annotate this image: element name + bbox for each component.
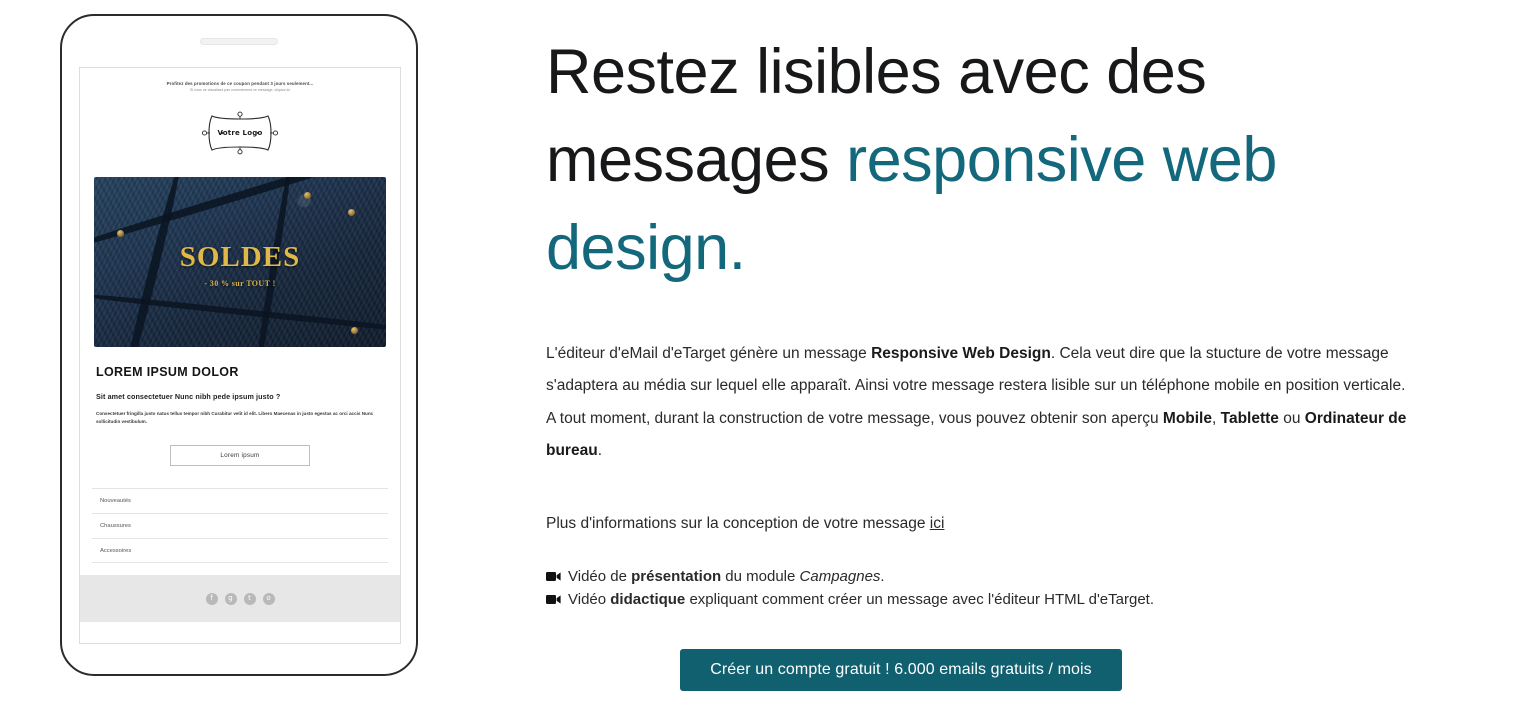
page-title: Restez lisibles avec des messages respon… <box>546 28 1426 292</box>
denim-stud-icon <box>117 230 124 237</box>
email-hero-image: SOLDES - 30 % sur TOUT ! <box>94 177 386 347</box>
video-camera-icon <box>546 594 561 605</box>
email-menu-item-chaussures[interactable]: Chaussures <box>92 513 388 538</box>
email-preheader-line2: Si vous ne visualisez pas correctement c… <box>102 87 378 93</box>
facebook-icon[interactable]: f <box>206 593 218 605</box>
email-body: LOREM IPSUM DOLOR Sit amet consectetuer … <box>80 347 400 466</box>
email-hero-title: SOLDES <box>94 242 386 272</box>
denim-stud-icon <box>351 327 358 334</box>
email-menu-item-accessoires[interactable]: Accessoires <box>92 538 388 563</box>
twitter-icon[interactable]: t <box>244 593 256 605</box>
phone-screen: Profitez des promotions de ce coupon pen… <box>79 67 401 644</box>
email-logo: Votre Logo <box>80 111 400 155</box>
create-free-account-button[interactable]: Créer un compte gratuit ! 6.000 emails g… <box>680 649 1122 691</box>
paragraph-preview-modes: A tout moment, durant la construction de… <box>546 403 1436 467</box>
paragraph-2-bold-tablette: Tablette <box>1221 410 1279 427</box>
email-subheading: Sit amet consectetuer Nunc nibh pede ips… <box>96 392 384 401</box>
paragraph-1-before: L'éditeur d'eMail d'eTarget génère un me… <box>546 345 871 362</box>
more-info-link[interactable]: ici <box>930 515 945 532</box>
logo-text: Votre Logo <box>198 129 282 137</box>
video-1-italic: Campagnes <box>800 568 881 585</box>
page-root: Profitez des promotions de ce coupon pen… <box>0 0 1536 705</box>
email-cta-button[interactable]: Lorem ipsum <box>170 445 310 466</box>
more-info-line: Plus d'informations sur la conception de… <box>546 511 1466 537</box>
denim-stud-icon <box>348 209 355 216</box>
logo-badge-icon: Votre Logo <box>198 111 282 155</box>
email-heading: LOREM IPSUM DOLOR <box>96 365 384 379</box>
video-presentation-text: Vidéo de présentation du module Campagne… <box>568 565 885 588</box>
more-info-text: Plus d'informations sur la conception de… <box>546 515 930 532</box>
email-footer: f g t o <box>80 575 400 622</box>
denim-seam <box>94 177 386 251</box>
email-preheader-line1: Profitez des promotions de ce coupon pen… <box>102 80 378 87</box>
email-button-wrap: Lorem ipsum <box>96 445 384 466</box>
cta-container: Créer un compte gratuit ! 6.000 emails g… <box>546 649 1466 691</box>
video-1-bold: présentation <box>631 568 721 585</box>
phone-frame: Profitez des promotions de ce coupon pen… <box>60 14 418 676</box>
paragraph-2-sep-2: ou <box>1279 410 1305 427</box>
video-camera-icon <box>546 571 561 582</box>
video-2-middle: expliquant comment créer un message avec… <box>685 591 1154 608</box>
google-icon[interactable]: g <box>225 593 237 605</box>
video-1-before: Vidéo de <box>568 568 631 585</box>
paragraph-1-bold: Responsive Web Design <box>871 345 1051 362</box>
video-didactique-text: Vidéo didactique expliquant comment crée… <box>568 588 1154 611</box>
video-links-list: Vidéo de présentation du module Campagne… <box>546 565 1466 611</box>
paragraph-2-sep-1: , <box>1212 410 1221 427</box>
content-column: Restez lisibles avec des messages respon… <box>546 0 1466 705</box>
paragraph-2-end: . <box>598 442 602 459</box>
video-2-before: Vidéo <box>568 591 610 608</box>
paragraph-responsive: L'éditeur d'eMail d'eTarget génère un me… <box>546 338 1436 402</box>
phone-mockup-column: Profitez des promotions de ce coupon pen… <box>0 0 500 705</box>
email-hero-text: SOLDES - 30 % sur TOUT ! <box>94 242 386 288</box>
paragraph-2-before: A tout moment, durant la construction de… <box>546 410 1163 427</box>
paragraph-2-bold-mobile: Mobile <box>1163 410 1212 427</box>
email-hero-subtitle: - 30 % sur TOUT ! <box>94 279 386 288</box>
instagram-icon[interactable]: o <box>263 593 275 605</box>
list-item-video-presentation[interactable]: Vidéo de présentation du module Campagne… <box>546 565 1466 588</box>
denim-stud-icon <box>304 192 311 199</box>
email-paragraph: Consectetuer fringilla justo natus tellu… <box>96 410 384 425</box>
email-menu-item-nouveautes[interactable]: Nouveautés <box>92 488 388 513</box>
video-2-bold: didactique <box>610 591 685 608</box>
intro-paragraphs: L'éditeur d'eMail d'eTarget génère un me… <box>546 338 1466 467</box>
phone-speaker-icon <box>200 38 278 45</box>
list-item-video-didactique[interactable]: Vidéo didactique expliquant comment crée… <box>546 588 1466 611</box>
email-menu-links: Nouveautés Chaussures Accessoires <box>92 488 388 563</box>
video-1-end: . <box>880 568 884 585</box>
email-preheader: Profitez des promotions de ce coupon pen… <box>80 68 400 93</box>
video-1-middle: du module <box>721 568 799 585</box>
